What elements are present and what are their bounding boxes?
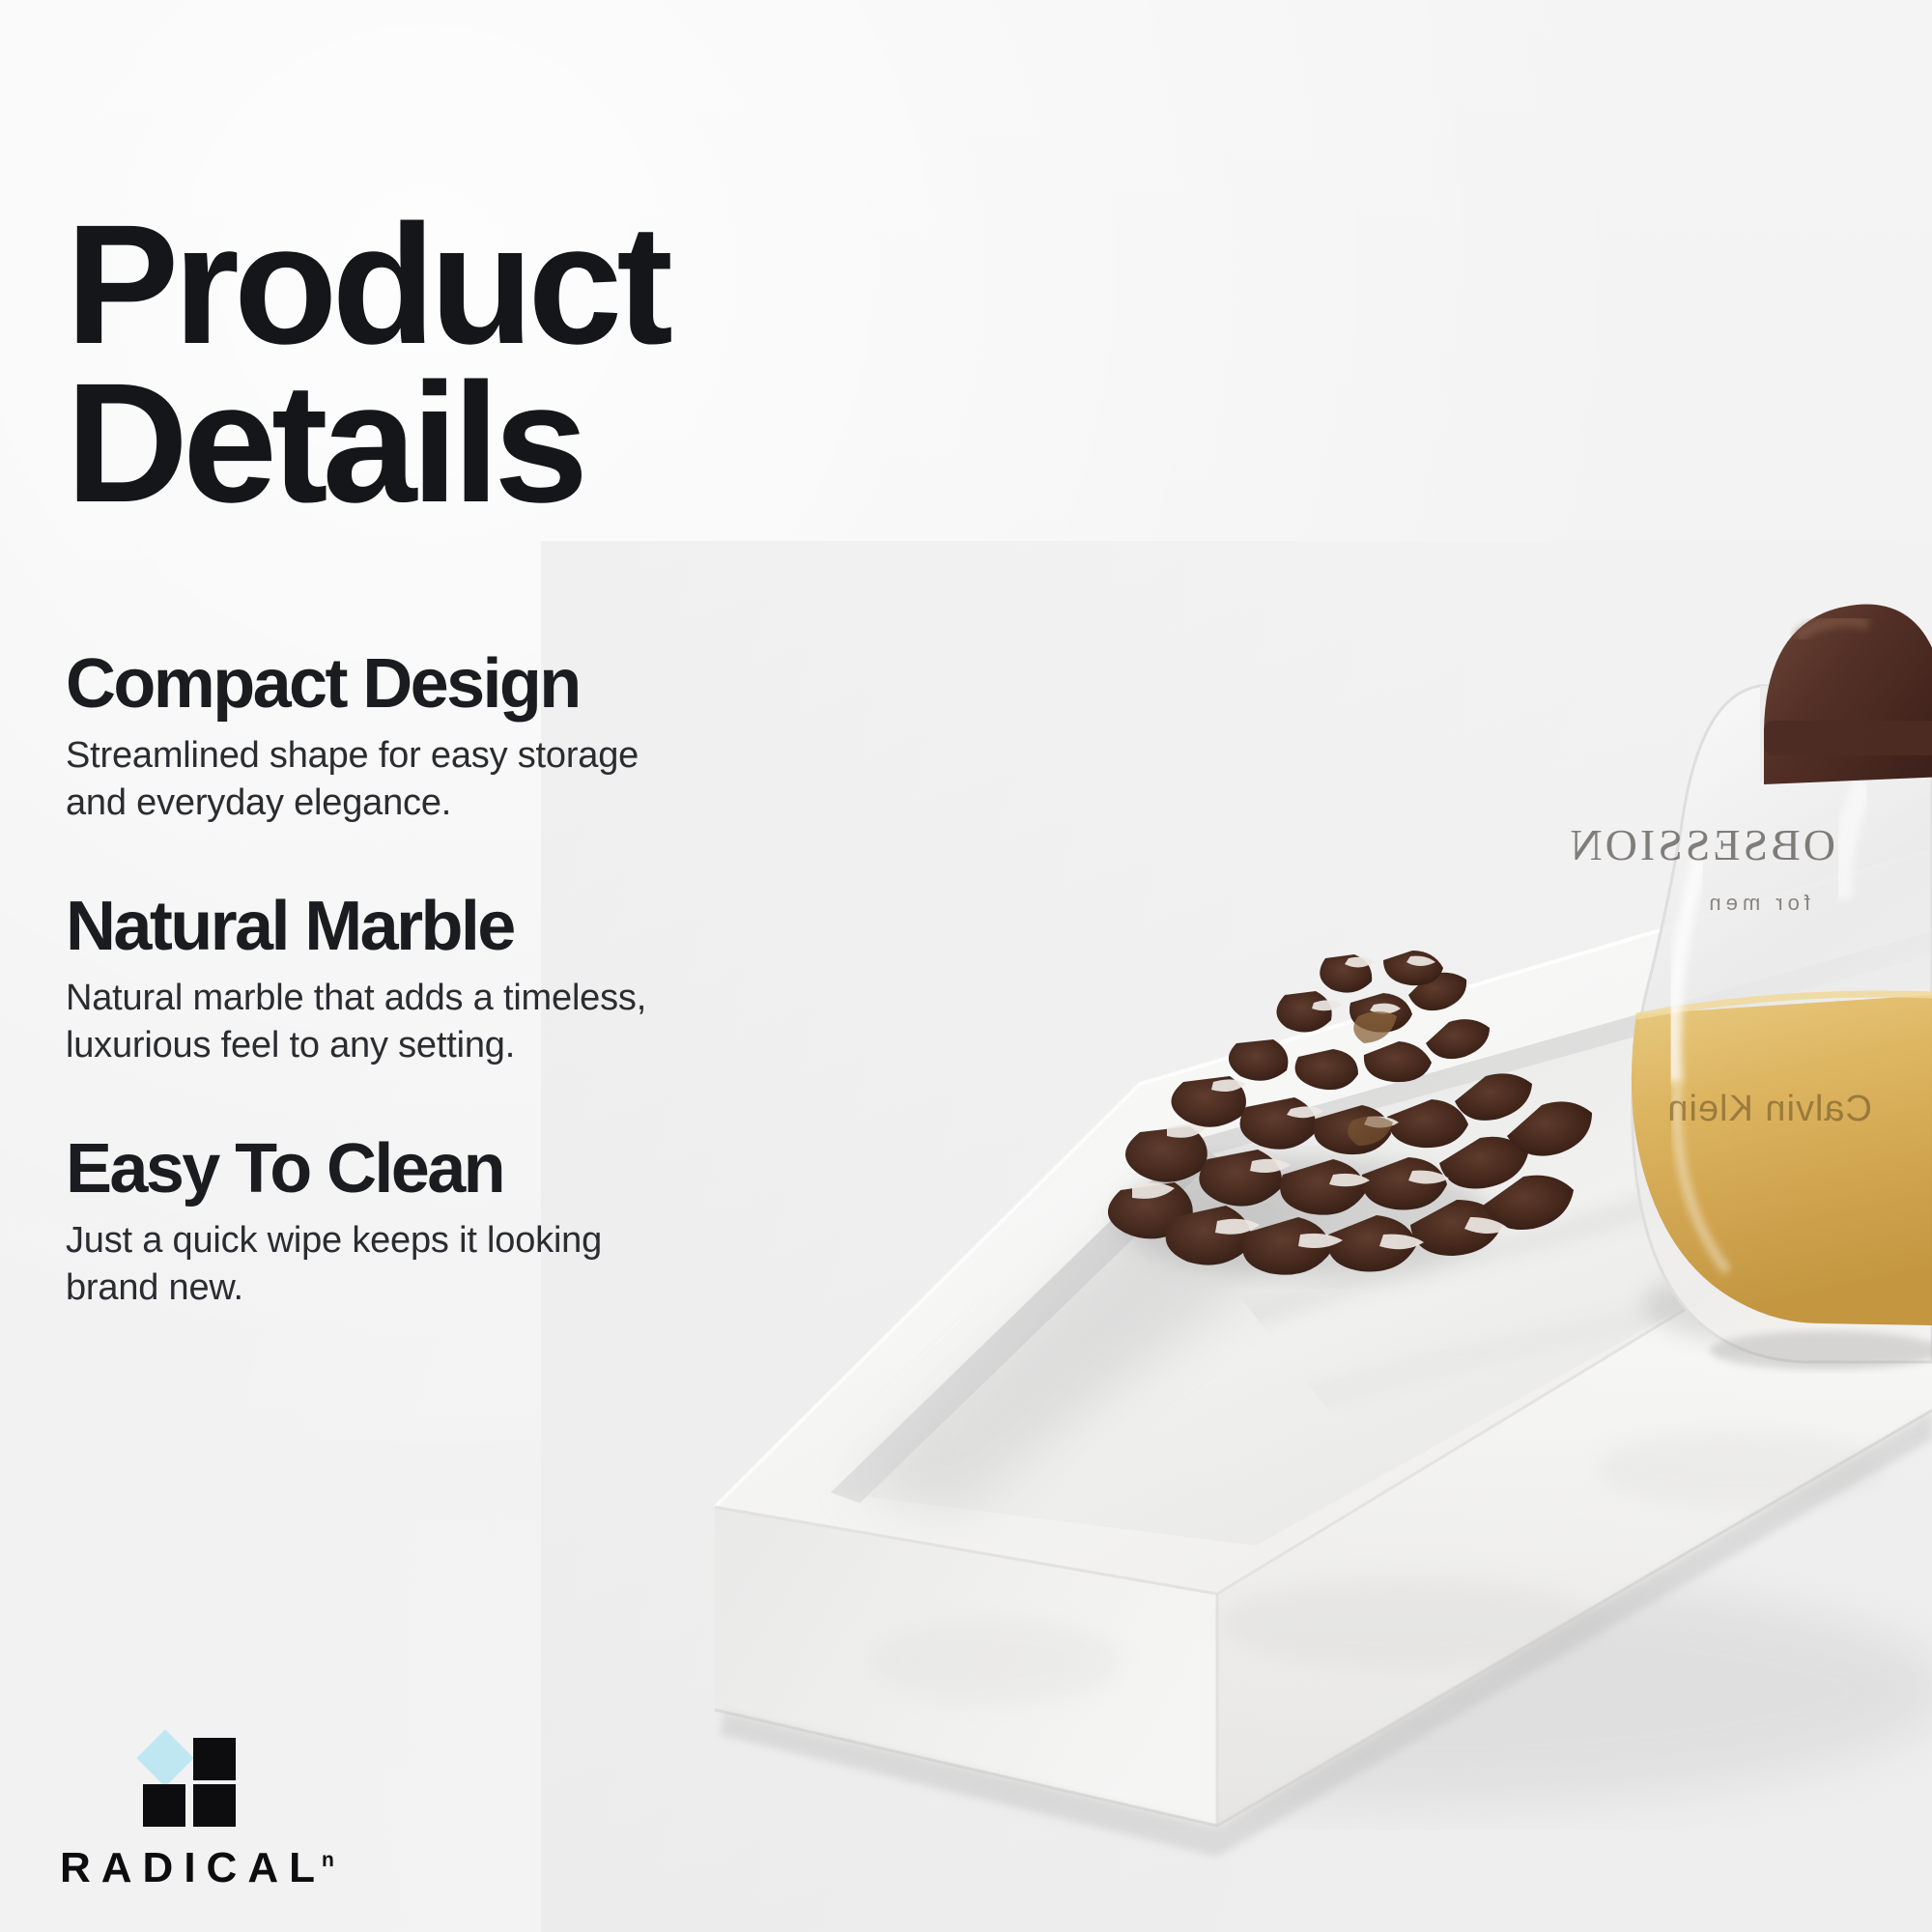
square-top-right-icon [193, 1738, 236, 1780]
feature-item-easy-to-clean: Easy To Clean Just a quick wipe keeps it… [66, 1134, 703, 1313]
logo-superscript: n [322, 1849, 334, 1871]
feature-description: Just a quick wipe keeps it looking brand… [66, 1217, 703, 1313]
feature-item-natural-marble: Natural Marble Natural marble that adds … [66, 892, 703, 1070]
logo-mark-icon [139, 1734, 255, 1829]
feature-title: Compact Design [66, 649, 703, 719]
feature-description: Natural marble that adds a timeless, lux… [66, 975, 703, 1070]
logo-wordmark: RADICALn [60, 1844, 334, 1892]
product-details-graphic: OBSESSION for men Calvin Klein Product D… [0, 0, 1932, 1932]
diamond-square-icon [136, 1729, 193, 1786]
feature-description: Streamlined shape for easy storage and e… [66, 732, 703, 828]
feature-title: Easy To Clean [66, 1134, 703, 1204]
feature-title: Natural Marble [66, 892, 703, 961]
feature-item-compact-design: Compact Design Streamlined shape for eas… [66, 649, 703, 828]
logo-wordmark-text: RADICAL [60, 1844, 326, 1891]
product-photo: OBSESSION for men Calvin Klein [541, 541, 1932, 1932]
square-bottom-left-icon [143, 1784, 185, 1827]
feature-list: Compact Design Streamlined shape for eas… [66, 649, 703, 1312]
square-bottom-right-icon [193, 1784, 236, 1827]
page-title: Product Details [66, 207, 935, 523]
brand-logo: RADICALn [60, 1734, 334, 1892]
